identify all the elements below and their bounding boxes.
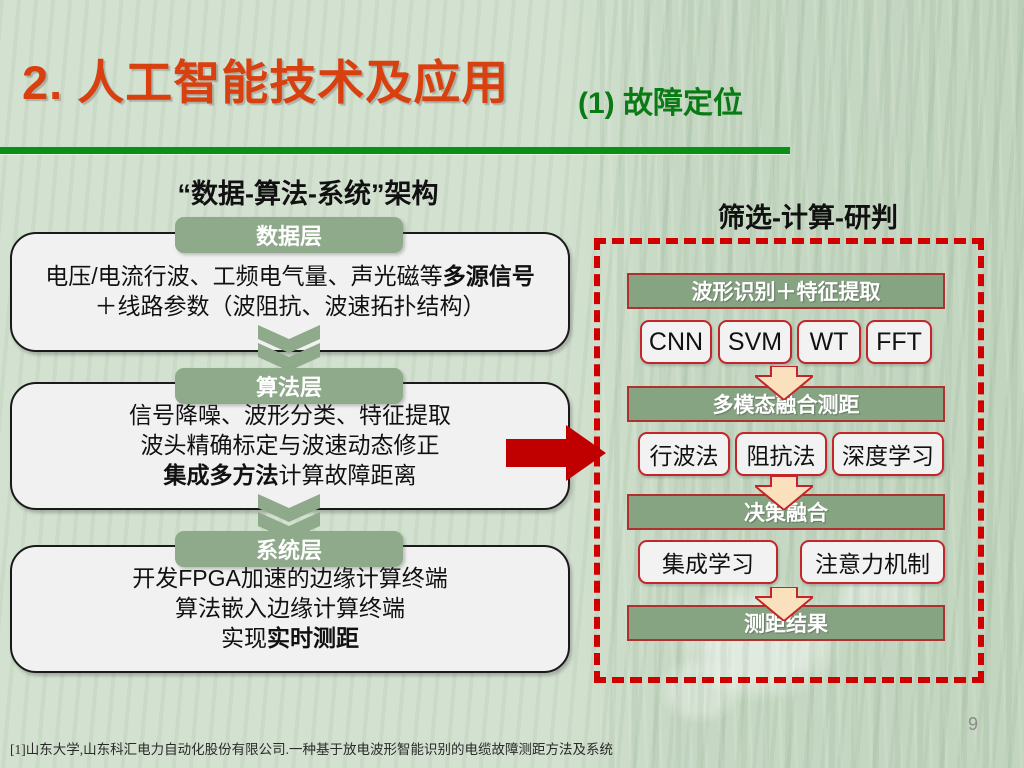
page-number: 9 (968, 714, 978, 735)
left-panel-heading: “数据-算法-系统”架构 (108, 172, 508, 211)
system-layer-line-2: 算法嵌入边缘计算终端 (175, 594, 405, 624)
down-arrow-icon-1 (755, 366, 813, 400)
footnote-citation: [1]山东大学,山东科汇电力自动化股份有限公司.一种基于放电波形智能识别的电缆故… (10, 738, 613, 758)
stage-bar-waveform-recognition: 波形识别＋特征提取 (627, 273, 945, 309)
chip-deep-learning: 深度学习 (832, 432, 944, 476)
chip-traveling-wave-method: 行波法 (638, 432, 730, 476)
system-layer-line-1: 开发FPGA加速的边缘计算终端 (132, 564, 448, 594)
right-arrow-icon (506, 425, 606, 481)
system-layer-line-3: 实现实时测距 (221, 624, 359, 654)
page-title: 2. 人工智能技术及应用 (22, 44, 509, 113)
double-chevron-down-icon-1 (258, 325, 320, 371)
data-layer-line-1: 电压/电流行波、工频电气量、声光磁等多源信号 (45, 262, 534, 292)
chip-ensemble-learning: 集成学习 (638, 540, 778, 584)
chip-cnn: CNN (640, 320, 712, 364)
chip-fft: FFT (866, 320, 932, 364)
algo-layer-line-3: 集成多方法计算故障距离 (164, 461, 417, 491)
down-arrow-icon-2 (755, 476, 813, 510)
layer-pill-system: 系统层 (175, 531, 403, 567)
data-layer-line-2: ＋线路参数（波阻抗、波速拓扑结构） (95, 292, 486, 322)
down-arrow-icon-3 (755, 587, 813, 621)
chip-impedance-method: 阻抗法 (735, 432, 827, 476)
page-subtitle: (1) 故障定位 (578, 78, 743, 122)
algo-layer-line-1: 信号降噪、波形分类、特征提取 (129, 401, 451, 431)
algo-layer-line-2: 波头精确标定与波速动态修正 (141, 431, 440, 461)
title-divider (0, 147, 790, 154)
chip-wt: WT (797, 320, 861, 364)
chip-attention-mechanism: 注意力机制 (800, 540, 945, 584)
chip-svm: SVM (718, 320, 792, 364)
layer-pill-data: 数据层 (175, 217, 403, 253)
right-panel-heading: 筛选-计算-研判 (618, 196, 998, 235)
layer-pill-algorithm: 算法层 (175, 368, 403, 404)
